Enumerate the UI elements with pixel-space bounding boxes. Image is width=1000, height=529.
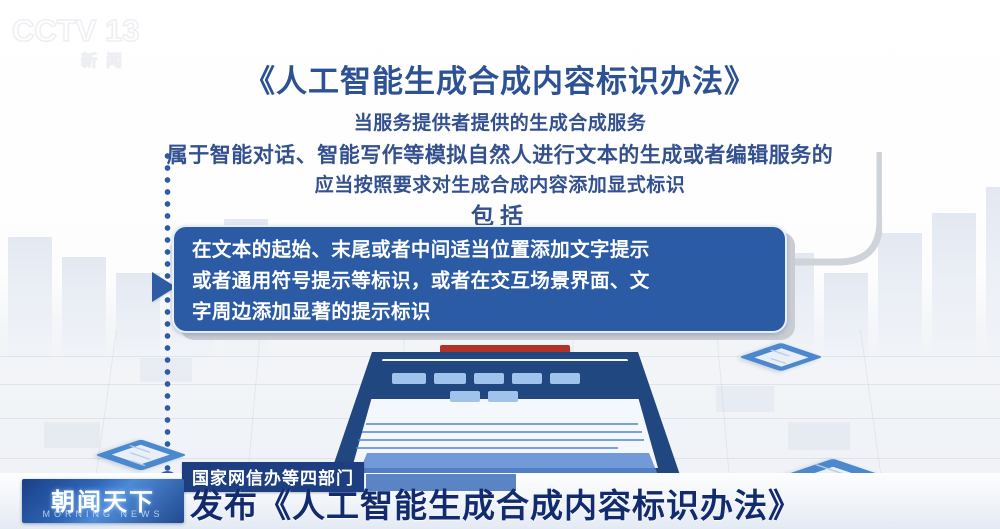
callout-line-1: 在文本的起始、末尾或者中间适当位置添加文字提示 — [192, 235, 769, 266]
page-title: 《人工智能生成合成内容标识办法》 — [0, 56, 1000, 101]
floating-tablet-card — [760, 336, 802, 378]
document-footer-band — [358, 453, 658, 475]
document-text-line — [362, 431, 642, 433]
subtitle-line-3: 应当按照要求对生成合成内容添加显式标识 — [0, 170, 1000, 197]
document-text-line — [356, 447, 618, 449]
document-block — [474, 373, 504, 384]
floating-tablet-card — [118, 432, 164, 478]
dotted-connector-line — [164, 150, 171, 475]
document-text-line — [358, 439, 644, 441]
callout-line-3: 字周边添加显著的提示标识 — [192, 297, 769, 328]
banner-headline: 发布《人工智能生成合成内容标识办法》 — [190, 479, 802, 527]
document-block — [434, 373, 466, 384]
program-name-en: MORNING NEWS — [22, 509, 184, 519]
program-logo: 朝闻天下 MORNING NEWS — [22, 479, 184, 523]
document-block — [488, 391, 518, 402]
document-block — [450, 391, 480, 402]
document-text-line — [366, 423, 638, 425]
callout-box: 在文本的起始、末尾或者中间适当位置添加文字提示 或者通用符号提示等标识，或者在交… — [172, 225, 787, 333]
subtitle-line-1: 当服务提供者提供的生成合成服务 — [0, 108, 1000, 135]
document-block — [512, 373, 542, 384]
watermark-channel-text: CCTV 13 — [12, 14, 172, 47]
document-block — [392, 373, 426, 384]
document-graphic — [330, 345, 680, 475]
document-block — [550, 373, 580, 384]
broadcast-stage: CCTV 13 新闻 《人工智能生成合成内容标识办法》 当服务提供者提供的生成合… — [0, 0, 1000, 529]
subtitle-line-2: 属于智能对话、智能写作等模拟自然人进行文本的生成或者编辑服务的 — [0, 139, 1000, 169]
callout-line-2: 或者通用符号提示等标识，或者在交互场景界面、文 — [192, 266, 769, 297]
